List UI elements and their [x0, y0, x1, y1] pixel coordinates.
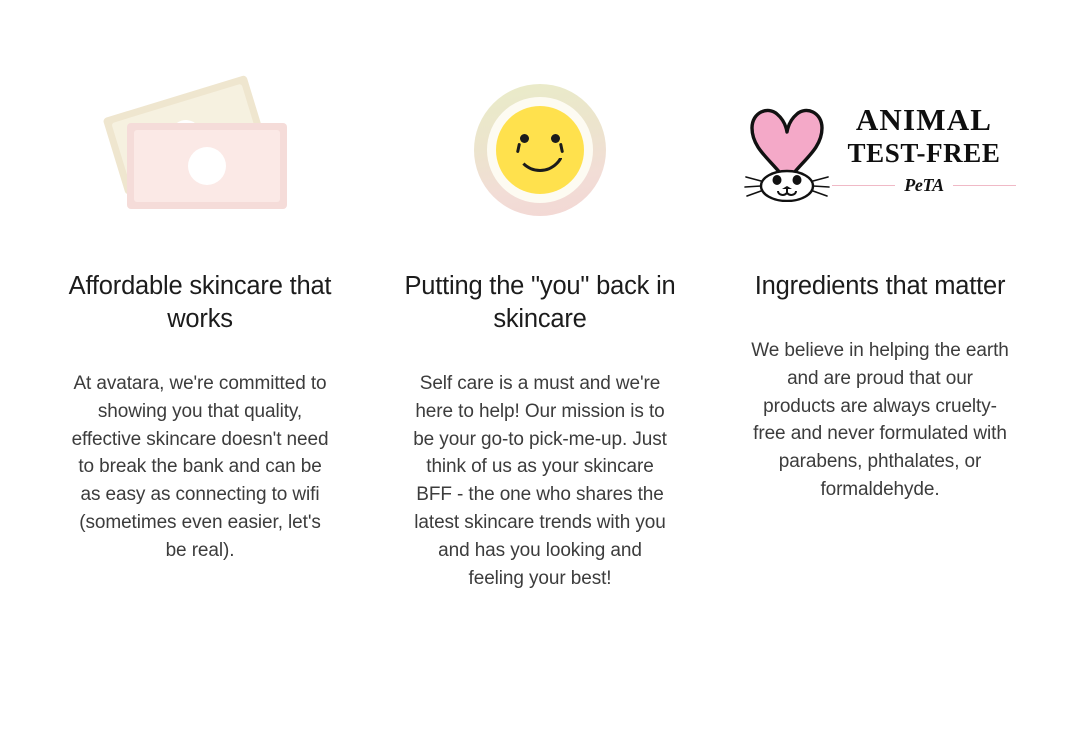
- peta-line-test-free: TEST-FREE: [848, 140, 1001, 167]
- money-bill-front-coin: [188, 147, 226, 185]
- smiley-eye-right: [551, 134, 560, 143]
- feature-body: Self care is a must and we're here to he…: [411, 370, 669, 592]
- peta-mark-rule: PeTA: [832, 175, 1016, 196]
- feature-column-ingredients: ANIMAL TEST-FREE PeTA Ingredients that m…: [710, 70, 1050, 504]
- peta-mark-text: PeTA: [895, 175, 952, 196]
- feature-icon-slot: [44, 70, 356, 230]
- feature-column-affordable: Affordable skincare that works At avatar…: [30, 70, 370, 565]
- feature-icon-slot: ANIMAL TEST-FREE PeTA: [724, 70, 1036, 230]
- bunny-heart-icon: [744, 98, 830, 202]
- smiley-face-icon: [474, 84, 606, 216]
- feature-heading: Ingredients that matter: [755, 270, 1006, 303]
- money-bill-front: [127, 123, 287, 209]
- peta-line-animal: ANIMAL: [856, 104, 992, 135]
- peta-animal-test-free-logo: ANIMAL TEST-FREE PeTA: [755, 98, 1005, 202]
- feature-body: We believe in helping the earth and are …: [751, 337, 1009, 504]
- feature-body: At avatara, we're committed to showing y…: [71, 370, 329, 565]
- feature-heading: Putting the "you" back in skincare: [400, 270, 680, 336]
- feature-column-you: Putting the "you" back in skincare Self …: [370, 70, 710, 592]
- smiley-face-circle: [496, 106, 584, 194]
- smiley-mouth: [515, 146, 565, 172]
- feature-heading: Affordable skincare that works: [60, 270, 340, 336]
- smiley-eye-left: [520, 134, 529, 143]
- money-bills-icon: [105, 85, 295, 215]
- peta-rule-right: [953, 185, 1016, 187]
- feature-icon-slot: [384, 70, 696, 230]
- smiley-inner-ring: [487, 97, 593, 203]
- peta-rule-left: [832, 185, 895, 187]
- features-section: Affordable skincare that works At avatar…: [0, 0, 1080, 749]
- peta-wordmark: ANIMAL TEST-FREE PeTA: [832, 104, 1016, 196]
